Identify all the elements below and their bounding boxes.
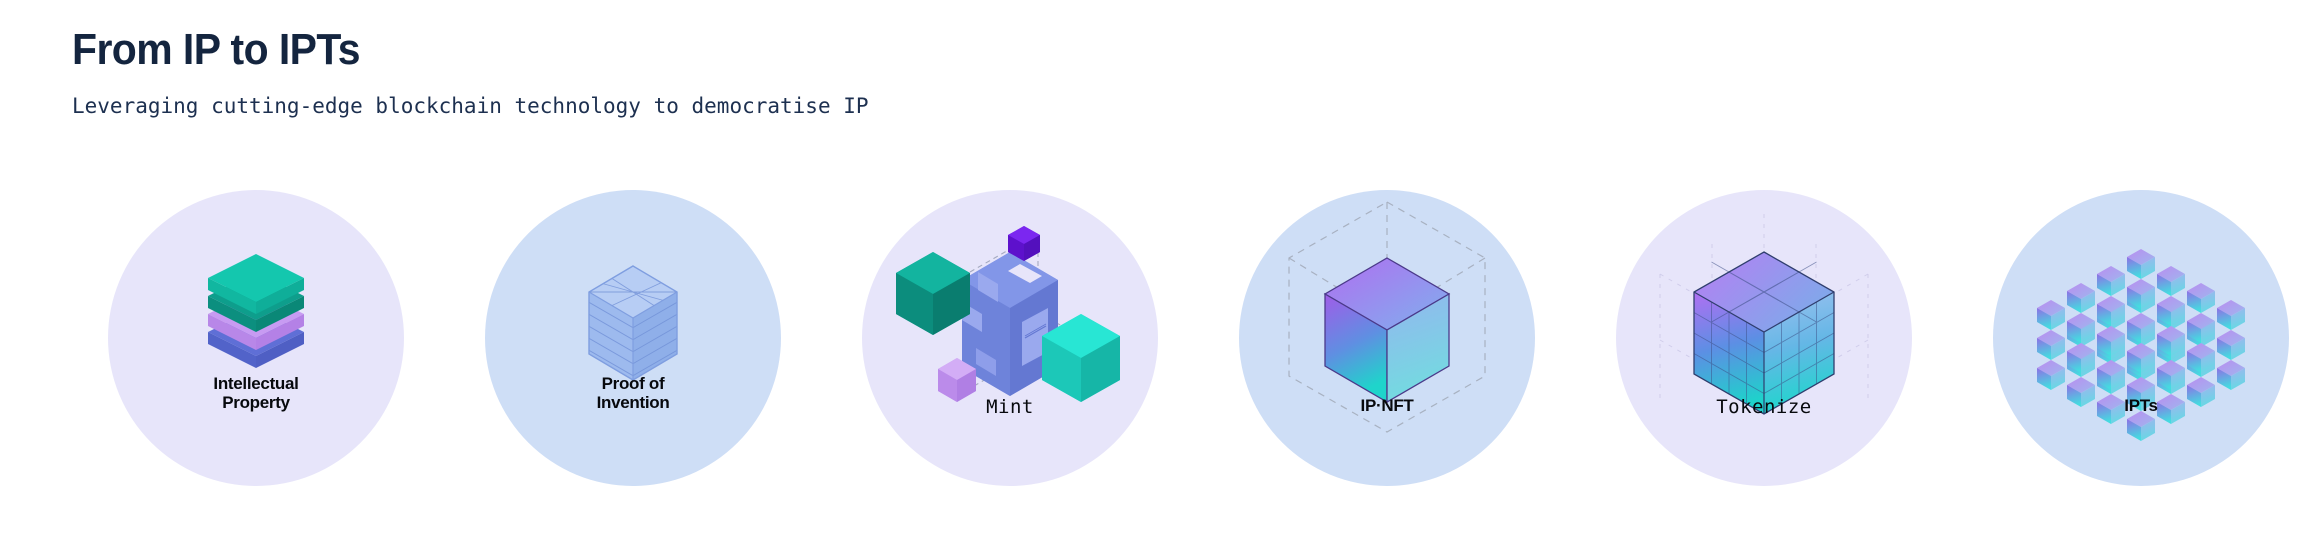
striped-cube-icon	[485, 190, 781, 486]
process-steps-row: Intellectual Property	[0, 190, 2304, 490]
step-intellectual-property[interactable]: Intellectual Property	[108, 190, 404, 486]
stacked-layers-icon	[108, 190, 404, 486]
step-label-proof-of-invention: Proof of Invention	[485, 374, 781, 412]
ip-to-ipts-section: From IP to IPTs Leveraging cutting-edge …	[0, 0, 2304, 545]
step-label-line-1: Intellectual	[108, 374, 404, 393]
step-tokenize[interactable]: Tokenize	[1616, 190, 1912, 486]
step-label-ip-nft: IP·NFT	[1239, 396, 1535, 415]
section-header: From IP to IPTs Leveraging cutting-edge …	[72, 24, 869, 120]
step-mint[interactable]: Mint	[862, 190, 1158, 486]
step-label-line-1: Tokenize	[1616, 396, 1912, 418]
step-label-intellectual-property: Intellectual Property	[108, 374, 404, 412]
step-label-tokenize: Tokenize	[1616, 396, 1912, 418]
page-title: From IP to IPTs	[72, 24, 813, 76]
exploded-cube-grid-icon	[1993, 190, 2289, 486]
step-label-line-2: Property	[108, 393, 404, 412]
subdivided-cube-icon	[1616, 190, 1912, 486]
assembling-cubes-icon	[862, 190, 1158, 486]
gradient-cube-wireframe-icon	[1239, 190, 1535, 486]
step-ip-nft[interactable]: IP·NFT	[1239, 190, 1535, 486]
step-label-ipts: IPTs	[1993, 396, 2289, 415]
step-proof-of-invention[interactable]: Proof of Invention	[485, 190, 781, 486]
step-label-line-1: Proof of	[485, 374, 781, 393]
step-label-line-1: IPTs	[1993, 396, 2289, 415]
step-label-mint: Mint	[862, 396, 1158, 418]
step-label-line-1: IP·NFT	[1239, 396, 1535, 415]
step-label-line-1: Mint	[862, 396, 1158, 418]
page-subtitle: Leveraging cutting-edge blockchain techn…	[72, 92, 869, 120]
step-ipts[interactable]: IPTs	[1993, 190, 2289, 486]
step-label-line-2: Invention	[485, 393, 781, 412]
